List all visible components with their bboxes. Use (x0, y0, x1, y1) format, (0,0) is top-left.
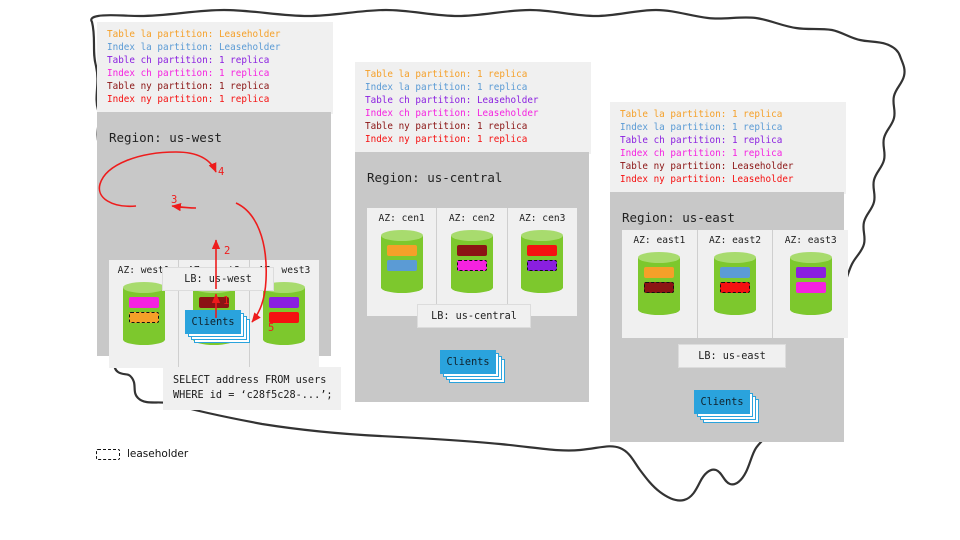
clients-us-west[interactable]: Clients (185, 310, 247, 338)
az-strip-us-central: AZ: cen1AZ: cen2AZ: cen3 (367, 208, 577, 316)
dashed-rect-icon (96, 449, 120, 460)
range-replica-index-la (387, 260, 417, 271)
database-node-cylinder (263, 282, 305, 345)
replica-config-line: Index la partition: Leaseholder (107, 41, 323, 54)
replica-config-line: Table la partition: 1 replica (620, 108, 836, 121)
diagram-canvas: Table la partition: LeaseholderIndex la … (0, 0, 960, 540)
az-strip-us-east: AZ: east1AZ: east2AZ: east3 (622, 230, 848, 338)
replica-config-line: Table ch partition: 1 replica (107, 54, 323, 67)
sql-line: WHERE id = ‘c28f5c28-...’; (173, 389, 331, 404)
clients-us-central[interactable]: Clients (440, 350, 502, 378)
az-label: AZ: cen1 (379, 213, 425, 224)
database-node-cylinder (790, 252, 832, 315)
cylinder-top (714, 252, 756, 263)
info-panel-us-east: Table la partition: 1 replicaIndex la pa… (610, 102, 846, 194)
lb-us-east[interactable]: LB: us-east (678, 344, 786, 368)
replica-config-line: Index ny partition: Leaseholder (620, 173, 836, 186)
legend-label: leaseholder (127, 448, 188, 460)
replica-config-line: Table la partition: 1 replica (365, 68, 581, 81)
database-node-cylinder (714, 252, 756, 315)
replica-config-line: Table ch partition: Leaseholder (365, 94, 581, 107)
replica-config-line: Index la partition: 1 replica (365, 81, 581, 94)
replica-config-line: Table ny partition: 1 replica (107, 80, 323, 93)
clients-box[interactable]: Clients (185, 310, 241, 334)
region-title-us-central: Region: us-central (367, 170, 502, 185)
range-replica-table-la-leaseholder (129, 312, 159, 323)
legend: leaseholder (96, 448, 188, 460)
region-title-us-west: Region: us-west (109, 130, 222, 145)
region-title-us-east: Region: us-east (622, 210, 735, 225)
replica-config-line: Table ny partition: Leaseholder (620, 160, 836, 173)
replica-config-line: Index ny partition: 1 replica (365, 133, 581, 146)
clients-box[interactable]: Clients (694, 390, 750, 414)
info-panel-us-west: Table la partition: LeaseholderIndex la … (97, 22, 333, 114)
range-replica-table-ny (457, 245, 487, 256)
replica-config-line: Table ch partition: 1 replica (620, 134, 836, 147)
range-replica-index-ch-leaseholder (457, 260, 487, 271)
range-replica-table-ch (796, 267, 826, 278)
range-replica-table-la (387, 245, 417, 256)
az-label: AZ: cen2 (449, 213, 495, 224)
az-label: AZ: east3 (785, 235, 837, 246)
cylinder-top (381, 230, 423, 241)
sql-line: SELECT address FROM users (173, 374, 331, 389)
info-panel-us-central: Table la partition: 1 replicaIndex la pa… (355, 62, 591, 154)
replica-config-line: Index ch partition: 1 replica (107, 67, 323, 80)
range-replica-index-ny-leaseholder (720, 282, 750, 293)
clients-box[interactable]: Clients (440, 350, 496, 374)
range-replica-index-ch (796, 282, 826, 293)
replica-config-line: Index ch partition: Leaseholder (365, 107, 581, 120)
clients-us-east[interactable]: Clients (694, 390, 756, 418)
az-label: AZ: cen3 (519, 213, 565, 224)
region-us-west: Region: us-west AZ: west1AZ: west2AZ: we… (97, 112, 331, 356)
step-number-2: 2 (224, 245, 230, 257)
az-label: AZ: east1 (633, 235, 685, 246)
range-replica-table-la (644, 267, 674, 278)
sql-callout: SELECT address FROM usersWHERE id = ‘c28… (163, 367, 341, 410)
database-node-cylinder (521, 230, 563, 293)
range-replica-index-ny (269, 312, 299, 323)
cylinder-top (638, 252, 680, 263)
az-cell-east2: AZ: east2 (698, 230, 774, 338)
az-label: AZ: east2 (709, 235, 761, 246)
az-cell-cen2: AZ: cen2 (437, 208, 507, 316)
region-us-east: Region: us-east AZ: east1AZ: east2AZ: ea… (610, 192, 844, 442)
cylinder-top (790, 252, 832, 263)
range-replica-table-ch-leaseholder (527, 260, 557, 271)
database-node-cylinder (638, 252, 680, 315)
az-cell-cen3: AZ: cen3 (508, 208, 577, 316)
replica-config-line: Table ny partition: 1 replica (365, 120, 581, 133)
database-node-cylinder (381, 230, 423, 293)
az-cell-east3: AZ: east3 (773, 230, 848, 338)
database-node-cylinder (123, 282, 165, 345)
replica-config-line: Index ch partition: 1 replica (620, 147, 836, 160)
range-replica-table-ny-leaseholder (644, 282, 674, 293)
az-cell-cen1: AZ: cen1 (367, 208, 437, 316)
range-replica-index-ny (527, 245, 557, 256)
range-replica-index-la (720, 267, 750, 278)
replica-config-line: Index ny partition: 1 replica (107, 93, 323, 106)
lb-us-west[interactable]: LB: us-west (162, 267, 274, 291)
step-number-1: 1 (223, 295, 229, 307)
step-number-5: 5 (268, 322, 274, 334)
cylinder-top (521, 230, 563, 241)
step-number-3: 3 (171, 194, 177, 206)
replica-config-line: Table la partition: Leaseholder (107, 28, 323, 41)
replica-config-line: Index la partition: 1 replica (620, 121, 836, 134)
database-node-cylinder (451, 230, 493, 293)
range-replica-index-ch (129, 297, 159, 308)
region-us-central: Region: us-central AZ: cen1AZ: cen2AZ: c… (355, 152, 589, 402)
cylinder-top (451, 230, 493, 241)
lb-us-central[interactable]: LB: us-central (417, 304, 531, 328)
range-replica-table-ch (269, 297, 299, 308)
az-cell-east1: AZ: east1 (622, 230, 698, 338)
step-number-4: 4 (218, 166, 224, 178)
cylinder-top (123, 282, 165, 293)
